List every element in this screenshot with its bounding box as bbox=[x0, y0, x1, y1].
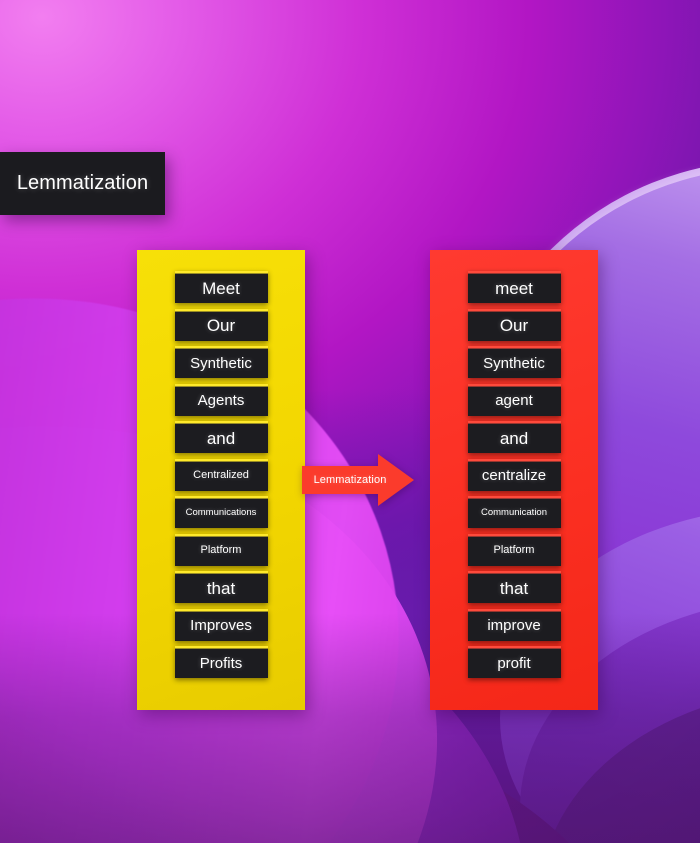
token-box: Our bbox=[468, 309, 561, 341]
token-label: Improves bbox=[190, 618, 252, 633]
token-box: that bbox=[175, 571, 268, 603]
token-box: improve bbox=[468, 609, 561, 641]
token-box: Agents bbox=[175, 384, 268, 416]
token-label: Synthetic bbox=[483, 356, 545, 371]
token-label: Platform bbox=[201, 545, 242, 556]
token-box: Platform bbox=[175, 534, 268, 566]
token-label: Centralized bbox=[193, 470, 249, 481]
token-box: that bbox=[468, 571, 561, 603]
page-title-label: Lemmatization bbox=[17, 172, 148, 195]
token-box: Improves bbox=[175, 609, 268, 641]
token-box: profit bbox=[468, 646, 561, 678]
token-label: and bbox=[207, 430, 235, 447]
right-arrow-icon bbox=[302, 452, 414, 508]
token-label: agent bbox=[495, 393, 533, 408]
lemmatized-token-column: meetOurSyntheticagentandcentralizeCommun… bbox=[430, 250, 598, 710]
token-label: and bbox=[500, 430, 528, 447]
lemmatization-diagram: Lemmatization MeetOurSyntheticAgentsandC… bbox=[0, 0, 700, 843]
token-label: Meet bbox=[202, 280, 240, 297]
token-box: Our bbox=[175, 309, 268, 341]
token-box: centralize bbox=[468, 459, 561, 491]
token-label: Profits bbox=[200, 656, 243, 671]
token-label: Synthetic bbox=[190, 356, 252, 371]
token-label: that bbox=[207, 580, 235, 597]
token-box: agent bbox=[468, 384, 561, 416]
token-label: Our bbox=[500, 317, 528, 334]
token-box: Synthetic bbox=[175, 346, 268, 378]
token-label: Agents bbox=[198, 393, 245, 408]
token-label: centralize bbox=[482, 468, 546, 483]
token-label: profit bbox=[497, 656, 530, 671]
token-box: Platform bbox=[468, 534, 561, 566]
token-box: and bbox=[468, 421, 561, 453]
token-box: and bbox=[175, 421, 268, 453]
token-label: Communication bbox=[481, 508, 547, 518]
token-label: meet bbox=[495, 280, 533, 297]
token-label: Our bbox=[207, 317, 235, 334]
token-box: Communications bbox=[175, 496, 268, 528]
token-label: Communications bbox=[186, 508, 257, 518]
token-box: meet bbox=[468, 271, 561, 303]
token-box: Communication bbox=[468, 496, 561, 528]
lemmatization-arrow: Lemmatization bbox=[302, 452, 414, 508]
token-box: Centralized bbox=[175, 459, 268, 491]
token-box: Profits bbox=[175, 646, 268, 678]
page-title: Lemmatization bbox=[0, 152, 165, 215]
token-label: Platform bbox=[494, 545, 535, 556]
token-box: Meet bbox=[175, 271, 268, 303]
token-label: improve bbox=[487, 618, 540, 633]
token-label: that bbox=[500, 580, 528, 597]
token-box: Synthetic bbox=[468, 346, 561, 378]
original-token-column: MeetOurSyntheticAgentsandCentralizedComm… bbox=[137, 250, 305, 710]
